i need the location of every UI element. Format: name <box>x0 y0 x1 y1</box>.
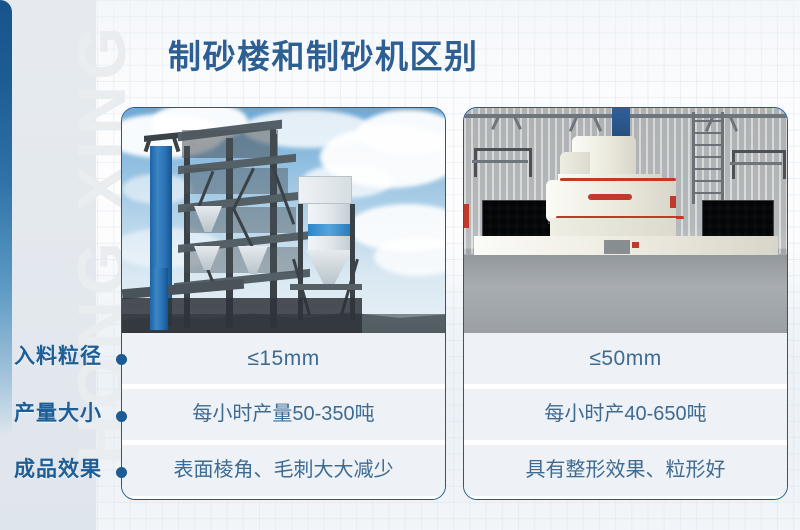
photo-sand-making-machine <box>464 108 787 333</box>
spec-value: 每小时产量50-350吨 <box>122 389 445 445</box>
crusher-lower-housing <box>550 218 676 236</box>
platform-handrail-bar <box>472 160 528 163</box>
spec-row-bullet-dot <box>116 467 127 478</box>
silo-top <box>298 176 352 204</box>
page-title: 制砂楼和制砂机区别 <box>168 30 479 78</box>
blue-elevator-base <box>150 268 168 330</box>
comparison-card-sand-making-tower[interactable]: ≤15mm 每小时产量50-350吨 表面棱角、毛刺大大减少 <box>121 107 446 500</box>
left-accent-bar <box>0 0 12 436</box>
spec-row-label-product-effect: 成品效果 <box>14 453 122 483</box>
spec-value: 表面棱角、毛刺大大减少 <box>122 445 445 496</box>
spec-value: ≤15mm <box>122 333 445 389</box>
wall-sign <box>612 108 630 136</box>
workshop-floor <box>464 255 787 333</box>
spec-rows-sand-making-machine: ≤50mm 每小时产40-650吨 具有整形效果、粒形好 <box>464 333 787 496</box>
structure-deck <box>290 284 362 290</box>
spec-row-label-feed-size: 入料粒径 <box>14 340 122 370</box>
silo-blue-band <box>308 224 350 236</box>
spec-value: 具有整形效果、粒形好 <box>464 445 787 496</box>
ground-shadow <box>122 314 445 333</box>
spec-value: 每小时产40-650吨 <box>464 389 787 445</box>
crusher-red-handle <box>588 194 632 200</box>
spec-row-bullet-dot <box>116 354 127 365</box>
spec-value: ≤50mm <box>464 333 787 389</box>
silo-body <box>308 236 350 250</box>
spec-row-bullet-dot <box>116 411 127 422</box>
warning-marker <box>670 196 676 208</box>
comparison-card-sand-making-machine[interactable]: ≤50mm 每小时产40-650吨 具有整形效果、粒形好 <box>463 107 788 500</box>
spec-row-label-capacity: 产量大小 <box>14 397 122 427</box>
wall-ladder <box>692 112 724 204</box>
platform-handrail-bar <box>730 162 782 165</box>
structure-grating <box>182 130 278 158</box>
warning-marker <box>464 204 469 228</box>
photo-sand-making-tower <box>122 108 445 333</box>
spec-rows-sand-making-tower: ≤15mm 每小时产量50-350吨 表面棱角、毛刺大大减少 <box>122 333 445 496</box>
crusher-red-seam <box>560 178 676 181</box>
